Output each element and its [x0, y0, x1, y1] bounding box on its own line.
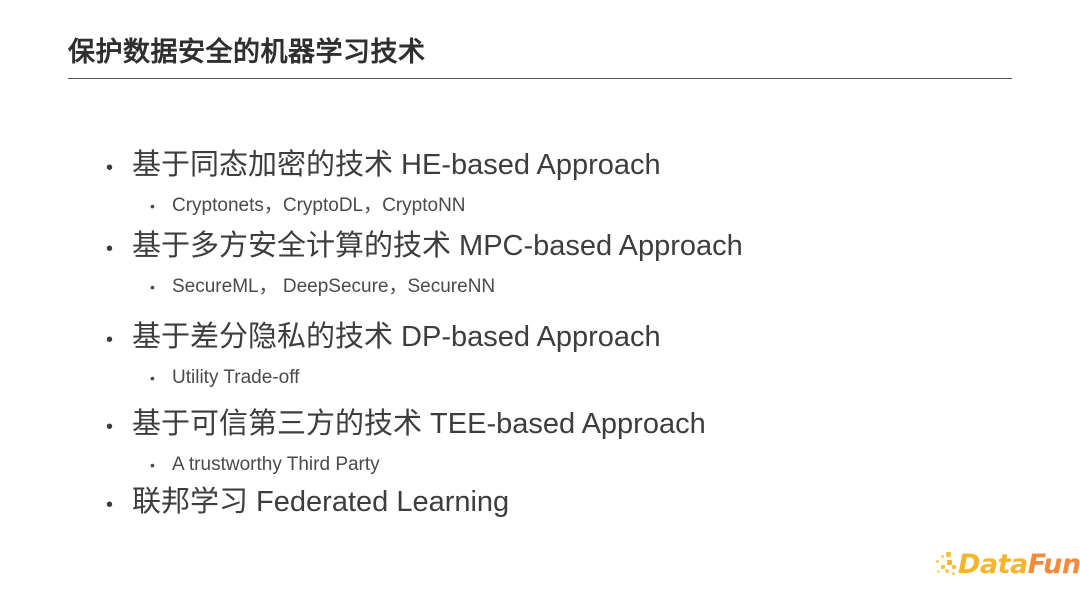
list-item: • 基于差分隐私的技术 DP-based Approach — [100, 315, 1000, 363]
title-divider — [68, 78, 1012, 79]
spacer — [100, 302, 1000, 315]
sub-list-item-label: Cryptonets，CryptoDL，CryptoNN — [172, 191, 466, 221]
logo-wordmark: DataFun. — [958, 548, 1080, 582]
page-title: 保护数据安全的机器学习技术 — [68, 36, 1012, 68]
sub-bullet-dot-icon: • — [100, 363, 172, 393]
sub-list-item: • Utility Trade-off — [100, 363, 1000, 393]
logo-text-fun: Fun — [1028, 549, 1080, 580]
datafun-logo: DataFun. — [936, 548, 1068, 586]
slide-canvas: 保护数据安全的机器学习技术 • 基于同态加密的技术 HE-based Appro… — [0, 0, 1080, 608]
sub-bullet-dot-icon: • — [100, 450, 172, 480]
logo-text-data: Data — [958, 549, 1028, 580]
bullet-dot-icon: • — [100, 405, 132, 450]
sub-bullet-dot-icon: • — [100, 191, 172, 221]
list-item: • 基于同态加密的技术 HE-based Approach — [100, 143, 1000, 191]
sub-list-item-label: Utility Trade-off — [172, 363, 299, 393]
bullet-dot-icon: • — [100, 318, 132, 363]
list-item: • 基于可信第三方的技术 TEE-based Approach — [100, 402, 1000, 450]
spacer — [100, 393, 1000, 402]
list-item: • 联邦学习 Federated Learning — [100, 480, 1000, 528]
bullet-list: • 基于同态加密的技术 HE-based Approach • Cryptone… — [100, 143, 1000, 528]
list-item-label: 基于差分隐私的技术 DP-based Approach — [132, 315, 661, 360]
sub-list-item: • SecureML， DeepSecure，SecureNN — [100, 272, 1000, 302]
list-item-label: 基于同态加密的技术 HE-based Approach — [132, 143, 661, 188]
list-item: • 基于多方安全计算的技术 MPC-based Approach — [100, 224, 1000, 272]
bullet-group: • 基于多方安全计算的技术 MPC-based Approach • Secur… — [100, 224, 1000, 302]
bullet-dot-icon: • — [100, 227, 132, 272]
bullet-dot-icon: • — [100, 146, 132, 191]
bullet-group: • 基于可信第三方的技术 TEE-based Approach • A trus… — [100, 402, 1000, 480]
sub-list-item-label: A trustworthy Third Party — [172, 450, 380, 480]
bullet-dot-icon: • — [100, 483, 132, 528]
title-block: 保护数据安全的机器学习技术 — [68, 36, 1012, 68]
sub-list-item: • A trustworthy Third Party — [100, 450, 1000, 480]
sub-bullet-dot-icon: • — [100, 272, 172, 302]
list-item-label: 联邦学习 Federated Learning — [132, 480, 509, 525]
sub-list-item-label: SecureML， DeepSecure，SecureNN — [172, 272, 495, 302]
list-item-label: 基于可信第三方的技术 TEE-based Approach — [132, 402, 706, 447]
sub-list-item: • Cryptonets，CryptoDL，CryptoNN — [100, 191, 1000, 221]
list-item-label: 基于多方安全计算的技术 MPC-based Approach — [132, 224, 743, 269]
bullet-group: • 联邦学习 Federated Learning — [100, 480, 1000, 528]
bullet-group: • 基于同态加密的技术 HE-based Approach • Cryptone… — [100, 143, 1000, 221]
bullet-group: • 基于差分隐私的技术 DP-based Approach • Utility … — [100, 315, 1000, 393]
